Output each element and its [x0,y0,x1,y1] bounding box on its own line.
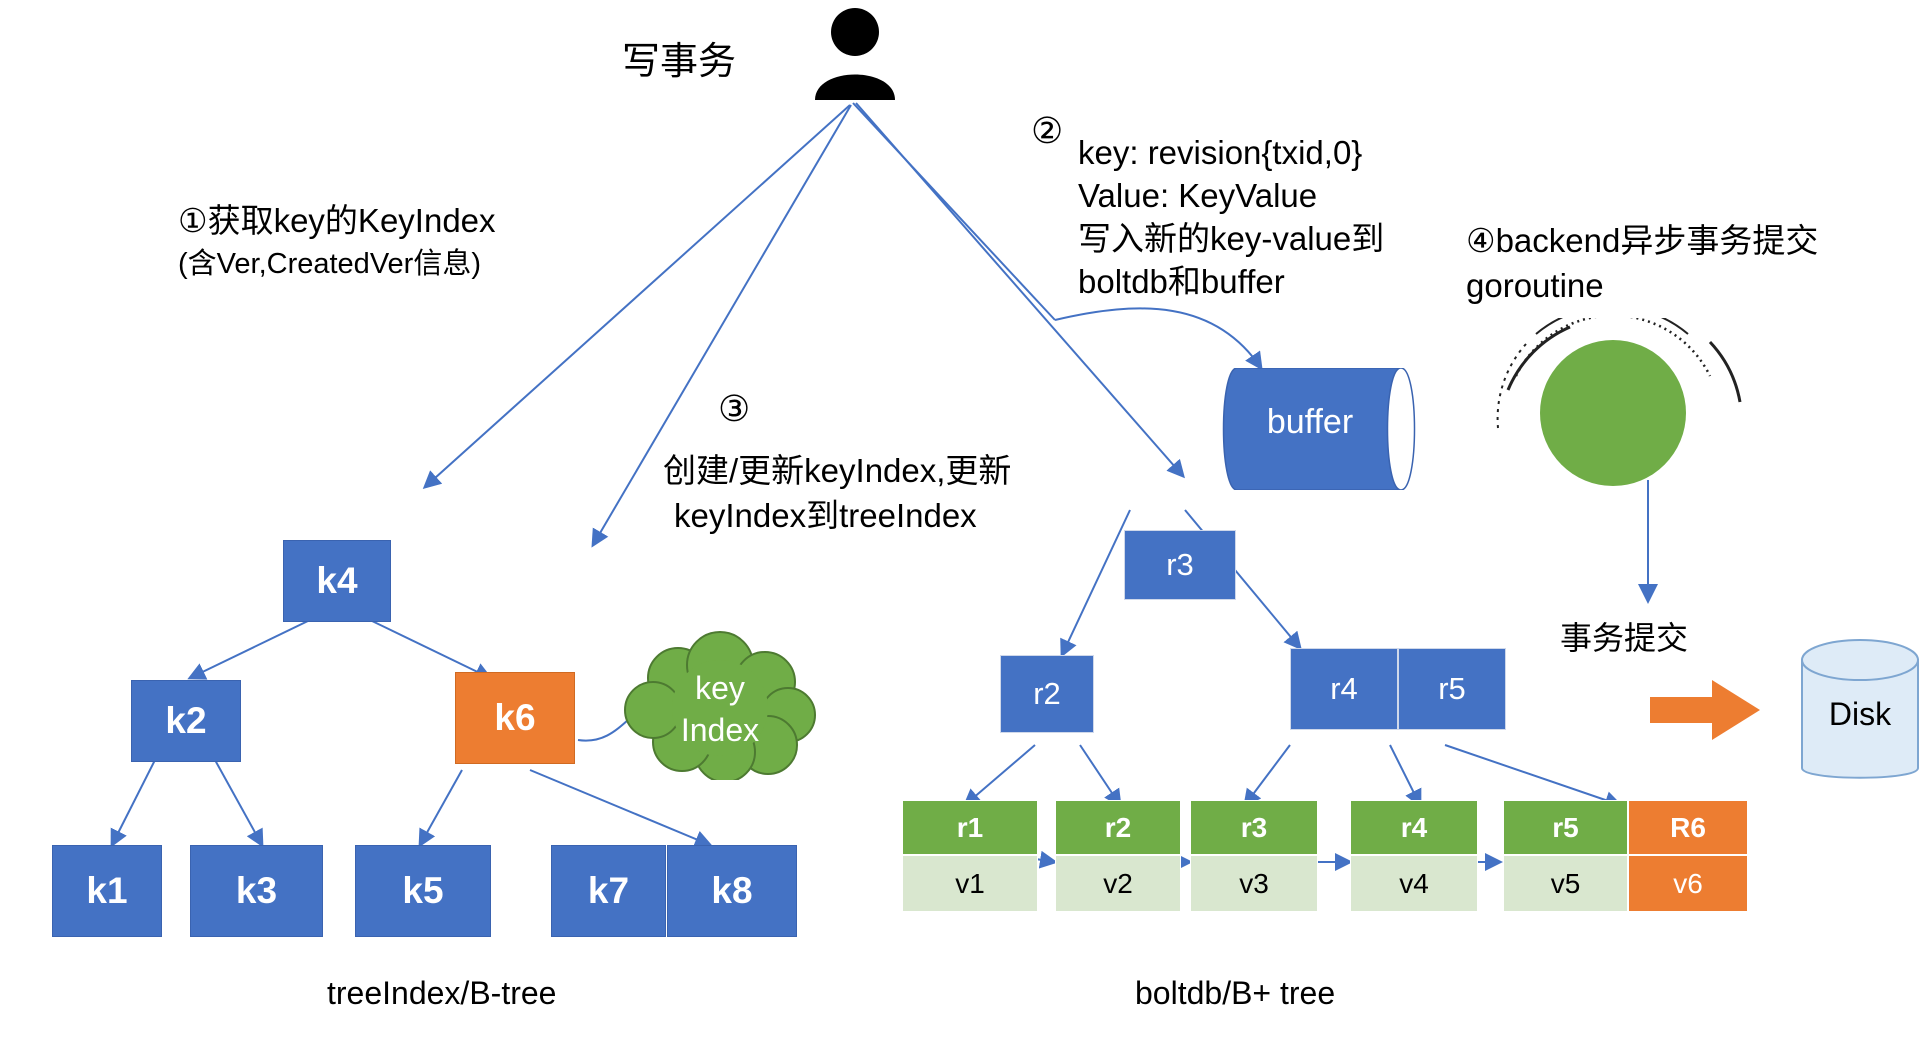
commit-label: 事务提交 [1560,620,1688,658]
bolt-node-r4-r5[interactable]: r4 r5 [1290,648,1506,730]
bolt-leaf-5-value-label: v5 [1551,868,1581,900]
bolt-leaf-6-key-label: R6 [1670,812,1706,844]
bolt-leaf-3-value-label: v3 [1239,868,1269,900]
bolt-leaf-4[interactable]: r4 v4 [1350,800,1478,912]
tree-leaf-k1-label: k1 [86,870,127,912]
bolt-node-r5-label: r5 [1438,671,1466,707]
annotation-1: ①获取key的KeyIndex (含Ver,CreatedVer信息) [178,202,496,275]
boltdb-caption: boltdb/B+ tree [1135,975,1335,1012]
disk-label: Disk [1800,696,1920,734]
annotation-4-line-1: ④backend异步事务提交 [1466,222,1818,261]
tree-leaf-k3[interactable]: k3 [190,845,323,937]
annotation-2-line-4: boltdb和buffer [1078,263,1384,302]
bolt-leaf-3-value[interactable]: v3 [1190,855,1318,912]
tree-leaf-k7[interactable]: k7 [551,845,666,937]
tree-node-k4-label: k4 [316,560,357,602]
bolt-leaf-2[interactable]: r2 v2 [1055,800,1181,912]
annotation-3-marker: ③ [718,388,750,430]
bolt-leaf-3[interactable]: r3 v3 [1190,800,1318,912]
buffer-label: buffer [1215,402,1405,442]
bolt-leaf-1-value[interactable]: v1 [902,855,1038,912]
tree-leaf-k3-label: k3 [236,870,277,912]
annotation-4-line-2: goroutine [1466,267,1818,306]
annotation-2-line-1: key: revision{txid,0} [1078,134,1384,173]
bolt-node-r4[interactable]: r4 [1290,648,1398,730]
tree-node-k2-label: k2 [165,700,206,742]
annotation-2-line-2: Value: KeyValue [1078,177,1384,216]
bolt-leaf-4-value[interactable]: v4 [1350,855,1478,912]
bolt-leaf-3-key-label: r3 [1241,812,1267,844]
bolt-leaf-1-value-label: v1 [955,868,985,900]
page-title: 写事务 [622,40,736,85]
goroutine-spinner-circle-icon [1478,318,1748,513]
bolt-leaf-6-value[interactable]: v6 [1628,855,1748,912]
bolt-leaf-2-value[interactable]: v2 [1055,855,1181,912]
bolt-node-r3-label: r3 [1166,547,1194,583]
tree-leaf-k5[interactable]: k5 [355,845,491,937]
tree-leaf-k1[interactable]: k1 [52,845,162,937]
person-icon [810,8,900,105]
bolt-leaf-5[interactable]: r5 v5 [1503,800,1628,912]
annotation-3-line-1: 创建/更新keyIndex,更新 [663,452,1011,491]
tree-leaf-k8-label: k8 [711,870,752,912]
tree-leaf-k8[interactable]: k8 [667,845,797,937]
bolt-leaf-5-value[interactable]: v5 [1503,855,1628,912]
bolt-node-r2-label: r2 [1033,676,1061,712]
bolt-leaf-3-key[interactable]: r3 [1190,800,1318,855]
annotation-2: key: revision{txid,0} Value: KeyValue 写入… [1078,134,1384,290]
bolt-leaf-2-value-label: v2 [1103,868,1133,900]
bolt-leaf-6-value-label: v6 [1673,868,1703,900]
bolt-leaf-5-key[interactable]: r5 [1503,800,1628,855]
tree-leaf-k7-label: k7 [588,870,629,912]
tree-node-k4[interactable]: k4 [283,540,391,622]
bolt-leaf-1-key[interactable]: r1 [902,800,1038,855]
key-index-cloud: key Index [620,630,820,785]
bolt-node-r2[interactable]: r2 [1000,655,1094,733]
annotation-1-line-2: (含Ver,CreatedVer信息) [178,247,496,281]
tree-index-caption: treeIndex/B-tree [327,975,556,1012]
tree-leaf-k5-label: k5 [402,870,443,912]
bolt-leaf-4-key[interactable]: r4 [1350,800,1478,855]
key-index-cloud-line-1: key [620,670,820,708]
annotation-3: 创建/更新keyIndex,更新 keyIndex到treeIndex [663,452,1011,530]
bolt-leaf-1-key-label: r1 [957,812,983,844]
buffer-shape: buffer [1215,368,1435,495]
annotation-2-marker: ② [1031,110,1063,152]
bolt-leaf-2-key[interactable]: r2 [1055,800,1181,855]
annotation-1-line-1: ①获取key的KeyIndex [178,202,496,241]
bolt-leaf-1[interactable]: r1 v1 [902,800,1038,912]
bolt-node-r4-label: r4 [1330,671,1358,707]
key-index-cloud-line-2: Index [620,712,820,750]
tree-node-k6-label: k6 [494,697,535,739]
bolt-leaf-2-key-label: r2 [1105,812,1131,844]
annotation-2-line-3: 写入新的key-value到 [1078,220,1384,259]
tree-node-k2[interactable]: k2 [131,680,241,762]
disk-shape: Disk [1800,638,1920,795]
bolt-leaf-6-key[interactable]: R6 [1628,800,1748,855]
annotation-3-line-2: keyIndex到treeIndex [674,497,1022,536]
tree-node-k6[interactable]: k6 [455,672,575,764]
bolt-node-r3[interactable]: r3 [1124,530,1236,600]
bolt-leaf-4-value-label: v4 [1399,868,1429,900]
diagram-canvas: 写事务 ①获取key的KeyIndex (含Ver,CreatedVer信息) … [0,0,1920,1063]
bolt-leaf-4-key-label: r4 [1401,812,1427,844]
annotation-4: ④backend异步事务提交 goroutine [1466,222,1818,300]
bolt-leaf-5-key-label: r5 [1552,812,1578,844]
bolt-node-r5[interactable]: r5 [1398,648,1506,730]
orange-arrow-icon [1650,680,1760,745]
bolt-leaf-6[interactable]: R6 v6 [1628,800,1748,912]
